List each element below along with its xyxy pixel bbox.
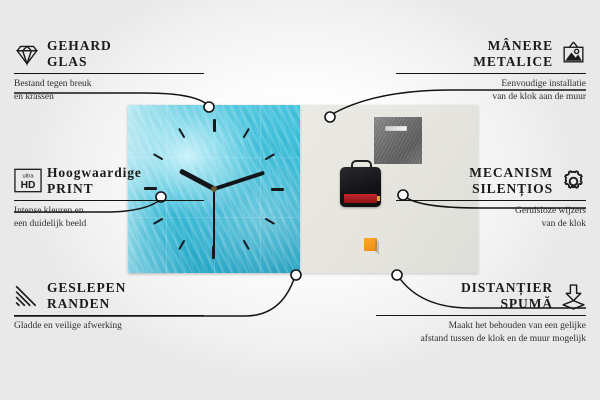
callout-desc-line1: Maakt het behouden van een gelijke (376, 320, 586, 333)
callout-title-line1: MÂNERE (473, 38, 553, 54)
hanger-slot (385, 126, 407, 131)
diamond-icon (14, 41, 40, 67)
clock-hand-cap (211, 186, 217, 192)
spacer-down-arrow-icon (560, 283, 586, 309)
callout-desc-line1: Gladde en veilige afwerking (14, 320, 204, 333)
callout-desc-line2: van de klok (396, 218, 586, 231)
callout-desc-line1: Intense kleuren en (14, 205, 204, 218)
callout-title-line1: GESLEPEN (47, 280, 126, 296)
gear-icon (560, 168, 586, 194)
callout-rule (14, 73, 204, 74)
callout-rule (14, 315, 204, 316)
clock-second-hand (213, 189, 215, 247)
metal-hanger-plate (374, 117, 422, 164)
callout-geslepen-randen: GESLEPEN RANDEN Gladde en veilige afwerk… (14, 280, 204, 333)
callout-hoogwaardige-print: ultra HD Hoogwaardige PRINT Intense kleu… (14, 165, 204, 230)
callout-title-line2: PRINT (47, 181, 142, 197)
callout-title-line1: MECANISM (469, 165, 553, 181)
callout-title-line2: RANDEN (47, 296, 126, 312)
battery (344, 194, 377, 203)
callout-title-line1: GEHARD (47, 38, 112, 54)
callout-title-line1: DISTANȚIER (461, 280, 553, 296)
callout-title-line2: METALICE (473, 54, 553, 70)
svg-text:ultra: ultra (23, 174, 35, 180)
callout-desc-line2: van de klok aan de muur (396, 91, 586, 104)
callout-mecanism-silentios: MECANISM SILENȚIOS Geruisloze wijzers va… (396, 165, 586, 230)
callout-desc-line2: een duidelijk beeld (14, 218, 204, 231)
callout-manere-metalice: MÂNERE METALICE Eenvoudige installatie v… (396, 38, 586, 103)
clock-marker-3 (214, 188, 284, 190)
framed-picture-icon (560, 41, 586, 67)
callout-distantier-spuma: DISTANȚIER SPUMĂ Maakt het behouden van … (376, 280, 586, 345)
infographic-canvas: GEHARD GLAS Bestand tegen breuk en krass… (0, 0, 600, 400)
svg-text:HD: HD (21, 180, 36, 191)
callout-rule (396, 200, 586, 201)
callout-rule (14, 200, 204, 201)
quartz-mechanism (340, 167, 381, 207)
callout-rule (396, 73, 586, 74)
clock-marker-12 (213, 119, 215, 189)
mechanism-hook (351, 160, 372, 172)
callout-title-line2: SILENȚIOS (469, 181, 553, 197)
callout-gehard-glas: GEHARD GLAS Bestand tegen breuk en krass… (14, 38, 204, 103)
callout-title-line1: Hoogwaardige (47, 165, 142, 181)
callout-rule (376, 315, 586, 316)
callout-desc-line1: Bestand tegen breuk (14, 78, 204, 91)
callout-desc-line1: Eenvoudige installatie (396, 78, 586, 91)
foam-spacer (364, 238, 377, 251)
bevelled-edges-icon (14, 283, 40, 309)
ultra-hd-icon: ultra HD (14, 168, 40, 194)
callout-title-line2: GLAS (47, 54, 112, 70)
callout-desc-line2: en krassen (14, 91, 204, 104)
callout-desc-line2: afstand tussen de klok en de muur mogeli… (376, 333, 586, 346)
callout-desc-line1: Geruisloze wijzers (396, 205, 586, 218)
callout-title-line2: SPUMĂ (461, 296, 553, 312)
